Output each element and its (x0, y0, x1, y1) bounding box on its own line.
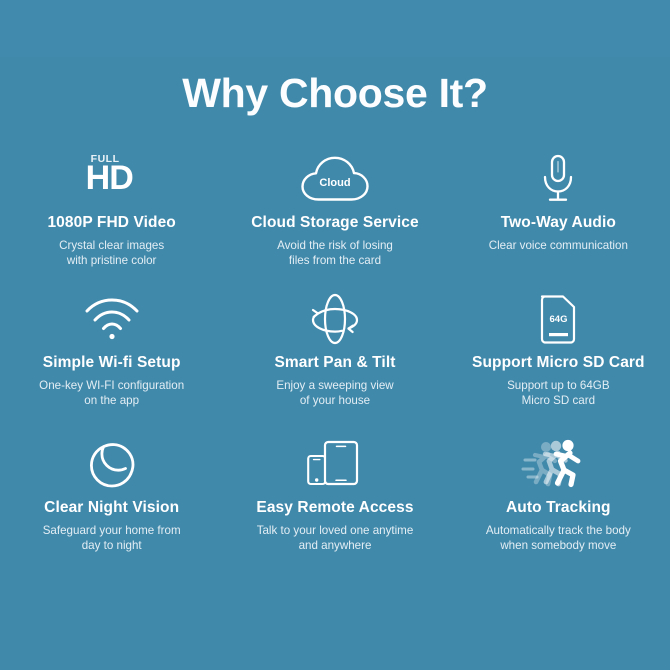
feature-heading: Auto Tracking (506, 499, 611, 517)
pan-tilt-icon (223, 290, 446, 348)
top-band (0, 0, 670, 57)
feature-cell-1080p-fhd-video: FULL HD 1080P FHD Video Crystal clear im… (0, 150, 223, 290)
feature-cell-clear-night-vision: Clear Night Vision Safeguard your home f… (0, 435, 223, 575)
feature-subtext-line-1: Clear voice communication (489, 238, 628, 253)
feature-subtext-line-2: files from the card (277, 253, 393, 268)
microphone-icon (447, 150, 670, 208)
feature-subtext-line-1: Crystal clear images (59, 238, 164, 253)
feature-subtext-line-1: Support up to 64GB (507, 378, 609, 393)
feature-heading: Smart Pan & Tilt (274, 354, 395, 372)
feature-grid: FULL HD 1080P FHD Video Crystal clear im… (0, 150, 670, 575)
feature-subtext-line-2: on the app (39, 393, 184, 408)
full-hd-icon-main-label: HD (86, 161, 133, 195)
cloud-icon: Cloud (223, 150, 446, 208)
phone-tablet-icon (223, 435, 446, 493)
feature-subtext: Enjoy a sweeping view of your house (276, 378, 393, 408)
cloud-icon-label: Cloud (319, 177, 350, 189)
feature-cell-simple-wifi-setup: Simple Wi-fi Setup One-key WI-FI configu… (0, 290, 223, 435)
page-title: Why Choose It? (0, 68, 670, 118)
moon-icon (0, 435, 223, 493)
feature-subtext-line-2: Micro SD card (507, 393, 609, 408)
feature-row-3: Clear Night Vision Safeguard your home f… (0, 435, 670, 575)
feature-cell-support-micro-sd-card: 64G Support Micro SD Card Support up to … (447, 290, 670, 435)
feature-subtext-line-2: of your house (276, 393, 393, 408)
wifi-icon (0, 290, 223, 348)
feature-subtext-line-1: Talk to your loved one anytime (257, 523, 414, 538)
sd-card-icon: 64G (447, 290, 670, 348)
feature-subtext: Clear voice communication (489, 238, 628, 253)
feature-cell-easy-remote-access: Easy Remote Access Talk to your loved on… (223, 435, 446, 575)
feature-cell-smart-pan-tilt: Smart Pan & Tilt Enjoy a sweeping view o… (223, 290, 446, 435)
feature-cell-cloud-storage-service: Cloud Cloud Storage Service Avoid the ri… (223, 150, 446, 290)
feature-subtext-line-1: Safeguard your home from (43, 523, 181, 538)
feature-heading: Support Micro SD Card (472, 354, 645, 372)
feature-heading: Two-Way Audio (501, 214, 616, 232)
promo-page: Why Choose It? FULL HD 1080P FHD Video C… (0, 0, 670, 670)
feature-heading: Clear Night Vision (44, 499, 179, 517)
feature-heading: Cloud Storage Service (251, 214, 418, 232)
feature-subtext-line-2: with pristine color (59, 253, 164, 268)
feature-subtext: Avoid the risk of losing files from the … (277, 238, 393, 268)
feature-heading: 1080P FHD Video (47, 214, 175, 232)
full-hd-icon: FULL HD (0, 150, 223, 208)
feature-subtext-line-1: One-key WI-FI configuration (39, 378, 184, 393)
feature-row-2: Simple Wi-fi Setup One-key WI-FI configu… (0, 290, 670, 435)
feature-heading: Simple Wi-fi Setup (43, 354, 181, 372)
feature-subtext: One-key WI-FI configuration on the app (39, 378, 184, 408)
feature-subtext-line-2: when somebody move (486, 538, 631, 553)
feature-subtext: Safeguard your home from day to night (43, 523, 181, 553)
sd-card-icon-label: 64G (550, 314, 568, 325)
feature-subtext: Support up to 64GB Micro SD card (507, 378, 609, 408)
feature-cell-auto-tracking: Auto Tracking Automatically track the bo… (447, 435, 670, 575)
running-person-tracking-icon (447, 435, 670, 493)
feature-row-1: FULL HD 1080P FHD Video Crystal clear im… (0, 150, 670, 290)
feature-cell-two-way-audio: Two-Way Audio Clear voice communication (447, 150, 670, 290)
feature-subtext: Crystal clear images with pristine color (59, 238, 164, 268)
feature-subtext-line-1: Enjoy a sweeping view (276, 378, 393, 393)
feature-subtext: Talk to your loved one anytime and anywh… (257, 523, 414, 553)
feature-subtext: Automatically track the body when somebo… (486, 523, 631, 553)
feature-subtext-line-2: day to night (43, 538, 181, 553)
feature-subtext-line-1: Avoid the risk of losing (277, 238, 393, 253)
feature-heading: Easy Remote Access (256, 499, 413, 517)
feature-subtext-line-1: Automatically track the body (486, 523, 631, 538)
feature-subtext-line-2: and anywhere (257, 538, 414, 553)
